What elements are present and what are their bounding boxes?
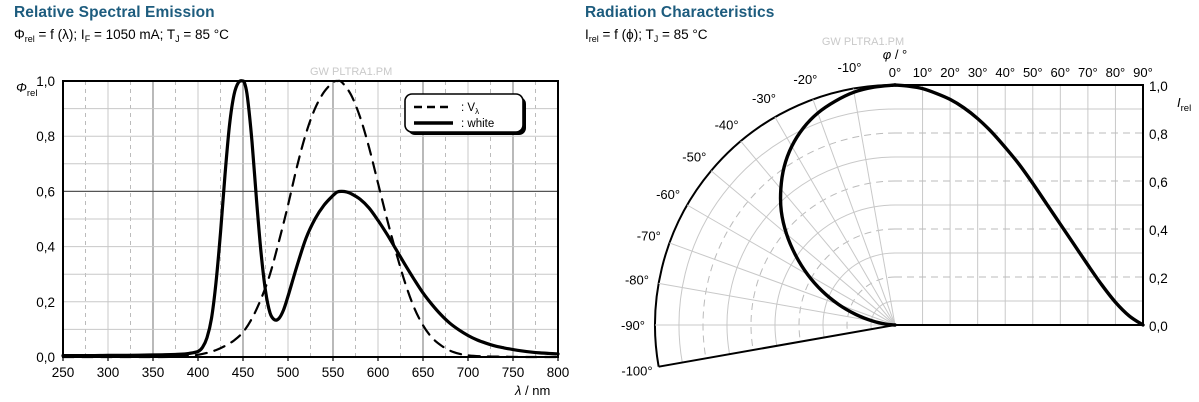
svg-text:-100°: -100° — [621, 363, 652, 378]
svg-text:10°: 10° — [913, 65, 933, 80]
svg-text:-10°: -10° — [838, 60, 862, 75]
svg-text:650: 650 — [412, 365, 435, 380]
svg-text:0,8: 0,8 — [36, 129, 55, 144]
radiation-characteristics-panel: Radiation Characteristics Irel = f (ϕ); … — [585, 0, 1199, 402]
svg-text:0,4: 0,4 — [1149, 223, 1168, 238]
svg-text:-70°: -70° — [637, 228, 661, 243]
right-irel-ticklabels: 0,00,20,40,60,81,0 — [1149, 79, 1168, 334]
svg-text:250: 250 — [52, 365, 75, 380]
svg-text:-50°: -50° — [682, 150, 706, 165]
svg-text:450: 450 — [232, 365, 255, 380]
svg-text:750: 750 — [502, 365, 525, 380]
svg-text:800: 800 — [547, 365, 570, 380]
spectral-emission-chart: GW PLTRA1.PM0,00,20,40,60,81,02503003504… — [0, 0, 585, 402]
svg-text:-40°: -40° — [715, 117, 739, 132]
svg-text:-30°: -30° — [752, 91, 776, 106]
right-top-angle-labels: 0°10°20°30°40°50°60°70°80°90° — [889, 65, 1153, 80]
svg-text:0°: 0° — [889, 65, 901, 80]
polar-edge-minus100 — [659, 325, 895, 367]
right-y-axis-label: Irel — [1177, 95, 1191, 114]
svg-text:-80°: -80° — [625, 273, 649, 288]
svg-text:70°: 70° — [1078, 65, 1098, 80]
svg-text:1,0: 1,0 — [36, 74, 55, 89]
svg-text:80°: 80° — [1106, 65, 1126, 80]
svg-text:0,8: 0,8 — [1149, 127, 1168, 142]
svg-text:0,0: 0,0 — [36, 350, 55, 365]
svg-text:400: 400 — [187, 365, 210, 380]
svg-text:300: 300 — [97, 365, 120, 380]
left-y-axis-label: Φrel — [16, 80, 37, 99]
svg-text:-90°: -90° — [621, 318, 645, 333]
svg-text:550: 550 — [322, 365, 345, 380]
svg-text:30°: 30° — [968, 65, 988, 80]
left-legend: : Vλ: white — [405, 94, 526, 135]
svg-text:0,4: 0,4 — [36, 240, 55, 255]
svg-text:350: 350 — [142, 365, 165, 380]
svg-text:700: 700 — [457, 365, 480, 380]
left-y-ticklabels: 0,00,20,40,60,81,0 — [36, 74, 55, 365]
svg-text:0,0: 0,0 — [1149, 319, 1168, 334]
svg-text:0,6: 0,6 — [36, 184, 55, 199]
svg-text:0,2: 0,2 — [36, 295, 55, 310]
svg-text:600: 600 — [367, 365, 390, 380]
right-x-axis-label: φ / ° — [883, 47, 908, 62]
svg-text:1,0: 1,0 — [1149, 79, 1168, 94]
spectral-emission-panel: Relative Spectral Emission Φrel = f (λ);… — [0, 0, 585, 402]
svg-text:40°: 40° — [995, 65, 1015, 80]
left-watermark: GW PLTRA1.PM — [310, 66, 392, 78]
svg-text:50°: 50° — [1023, 65, 1043, 80]
left-x-axis-label: λ / nm — [514, 383, 550, 398]
svg-text:0,6: 0,6 — [1149, 175, 1168, 190]
svg-text:20°: 20° — [940, 65, 960, 80]
svg-text:60°: 60° — [1050, 65, 1070, 80]
svg-text:-20°: -20° — [793, 72, 817, 87]
svg-text:500: 500 — [277, 365, 300, 380]
right-polar-curve — [781, 85, 895, 325]
left-x-ticklabels: 250300350400450500550600650700750800 — [52, 357, 570, 380]
screenshot-root: Relative Spectral Emission Φrel = f (λ);… — [0, 0, 1199, 402]
svg-text:-60°: -60° — [656, 187, 680, 202]
svg-text:0,2: 0,2 — [1149, 271, 1168, 286]
legend-label-white: : white — [461, 118, 494, 130]
svg-text:90°: 90° — [1133, 65, 1153, 80]
radiation-characteristics-chart: GW PLTRA1.PM0°10°20°30°40°50°60°70°80°90… — [585, 0, 1199, 402]
